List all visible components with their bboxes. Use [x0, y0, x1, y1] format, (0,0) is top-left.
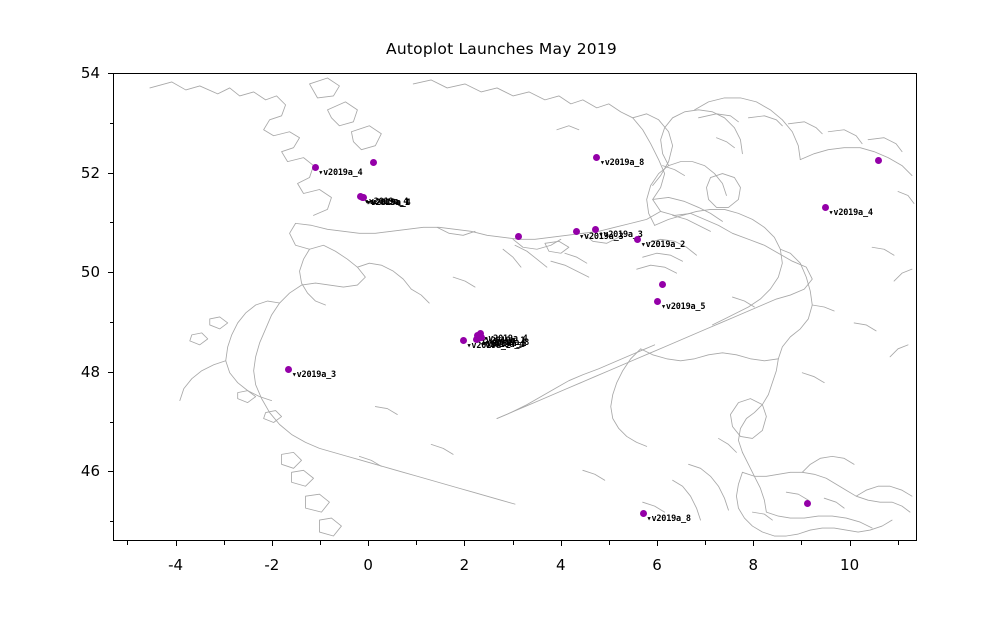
figure-canvas: Autoplot Launches May 2019	[0, 0, 1003, 633]
x-tick-label: -2	[264, 556, 279, 574]
y-tick-minor	[110, 322, 114, 323]
x-tick-minor	[898, 541, 899, 545]
x-tick	[850, 541, 851, 546]
y-tick-label: 50	[0, 263, 100, 281]
x-tick-label: 10	[840, 556, 859, 574]
x-tick	[368, 541, 369, 546]
y-tick	[108, 173, 113, 174]
x-tick	[272, 541, 273, 546]
x-tick-label: -4	[168, 556, 183, 574]
x-tick	[464, 541, 465, 546]
x-tick-minor	[801, 541, 802, 545]
y-tick-label: 52	[0, 164, 100, 182]
y-tick-label: 54	[0, 64, 100, 82]
data-point-label: ▾v2019a_4	[366, 198, 410, 208]
x-tick	[753, 541, 754, 546]
data-point-label: ▾v2019a_2	[641, 240, 685, 250]
x-tick-label: 8	[749, 556, 759, 574]
x-tick	[657, 541, 658, 546]
y-tick	[108, 272, 113, 273]
y-tick	[108, 73, 113, 74]
y-tick-minor	[110, 422, 114, 423]
y-tick	[108, 471, 113, 472]
data-point-marker[interactable]	[804, 500, 811, 507]
data-point-marker[interactable]	[875, 157, 882, 164]
x-tick-minor	[705, 541, 706, 545]
page-title: Autoplot Launches May 2019	[0, 40, 1003, 58]
x-tick-label: 2	[460, 556, 470, 574]
map-axes[interactable]	[113, 73, 917, 541]
data-layer	[114, 74, 916, 540]
x-tick-label: 4	[556, 556, 566, 574]
data-point-label: ▾v2019a_3	[292, 370, 336, 380]
data-point-label: ▾v2019a_4	[480, 340, 524, 350]
data-point-label: ▾v2019a_8	[600, 158, 644, 168]
x-tick-label: 6	[652, 556, 662, 574]
y-tick-minor	[110, 521, 114, 522]
x-tick	[561, 541, 562, 546]
data-point-label: ▾v2019a_8	[647, 514, 691, 524]
y-tick	[108, 372, 113, 373]
y-tick-label: 48	[0, 363, 100, 381]
x-tick-minor	[224, 541, 225, 545]
y-tick-minor	[110, 222, 114, 223]
data-point-label: ▾v2019a_4	[318, 168, 362, 178]
x-tick-label: 0	[363, 556, 373, 574]
x-tick	[176, 541, 177, 546]
x-tick-minor	[127, 541, 128, 545]
data-point-marker[interactable]	[515, 233, 522, 240]
data-point-label: ▾v2019a_5	[661, 302, 705, 312]
data-point-label: ▾v2019a_4	[829, 208, 873, 218]
x-tick-minor	[513, 541, 514, 545]
y-tick-label: 46	[0, 462, 100, 480]
x-tick-minor	[609, 541, 610, 545]
x-tick-minor	[320, 541, 321, 545]
x-tick-minor	[416, 541, 417, 545]
y-tick-minor	[110, 123, 114, 124]
